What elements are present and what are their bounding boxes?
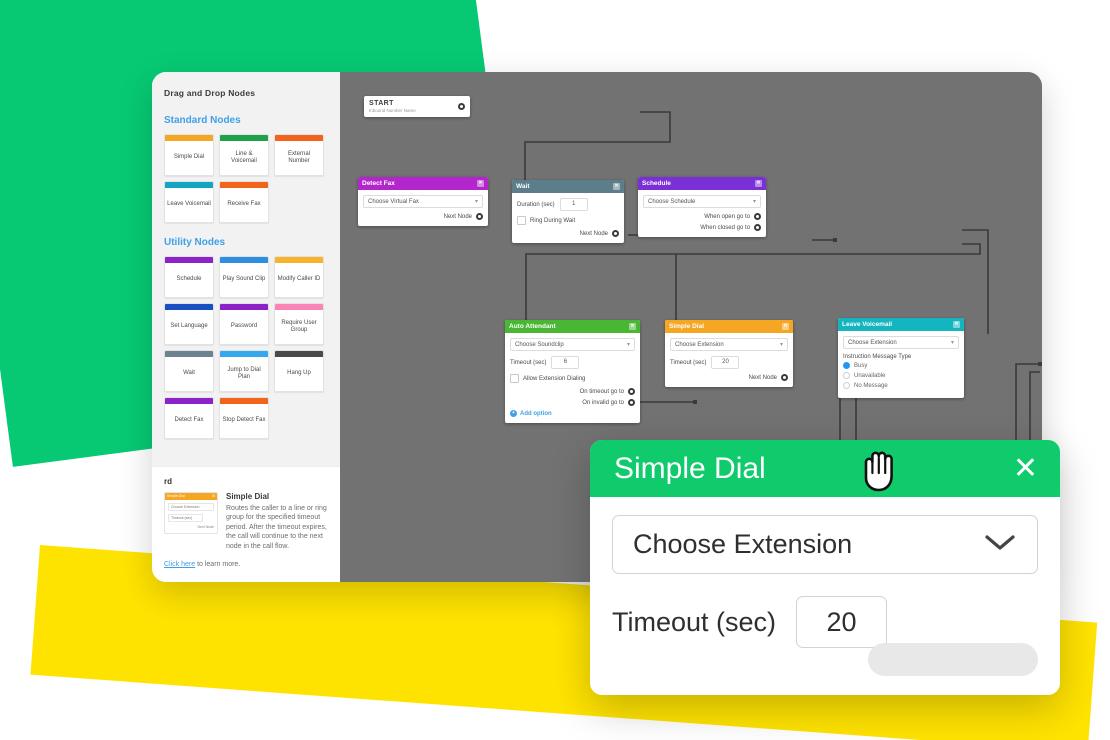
close-icon[interactable]: ✕ xyxy=(782,323,789,330)
select-value: Choose Schedule xyxy=(648,199,695,205)
timeout-label: Timeout (sec) xyxy=(510,360,546,366)
node-header: Leave Voicemail ✕ xyxy=(838,318,964,331)
node-title: Wait xyxy=(516,183,529,190)
flow-node-leave-voicemail[interactable]: Leave Voicemail ✕ Choose Extension ▾ Ins… xyxy=(838,318,964,398)
node-label: Set Language xyxy=(165,310,213,344)
duration-row: Duration (sec) 1 xyxy=(517,198,619,211)
virtual-fax-select[interactable]: Choose Virtual Fax ▾ xyxy=(363,195,483,208)
node-label: Require User Group xyxy=(275,310,323,344)
node-header: Schedule ✕ xyxy=(638,177,766,190)
chevron-down-icon: ▾ xyxy=(627,341,630,348)
close-icon[interactable]: ✕ xyxy=(477,180,484,187)
node-header: Detect Fax ✕ xyxy=(358,177,488,190)
port-label: Next Node xyxy=(580,231,608,237)
node-label: Play Sound Clip xyxy=(220,263,268,297)
palette-heading: Drag and Drop Nodes xyxy=(164,88,328,98)
node-palette-sidebar: Drag and Drop Nodes Standard Nodes Simpl… xyxy=(152,72,340,582)
palette-node-jump-to-dial-plan[interactable]: Jump to Dial Plan xyxy=(219,350,269,392)
node-label: Jump to Dial Plan xyxy=(220,357,268,391)
select-value: Choose Virtual Fax xyxy=(368,199,419,205)
palette-node-receive-fax[interactable]: Receive Fax xyxy=(219,181,269,223)
node-label: Password xyxy=(220,310,268,344)
legend-preview-card: Simple Dial ☒ Choose Extension Timeout (… xyxy=(164,492,218,534)
node-title: Auto Attendant xyxy=(509,323,556,330)
instruction-message-type-label: Instruction Message Type xyxy=(843,354,959,360)
node-label: Leave Voicemail xyxy=(165,188,213,222)
legend-preview-close-icon: ☒ xyxy=(212,494,215,498)
grab-hand-cursor-icon xyxy=(856,446,900,499)
close-icon[interactable]: ✕ xyxy=(1013,454,1038,484)
legend-preview-header: Simple Dial ☒ xyxy=(165,493,217,500)
screenshot-stage: Drag and Drop Nodes Standard Nodes Simpl… xyxy=(0,0,1110,740)
legend-preview-row-extension: Choose Extension xyxy=(168,503,214,511)
allow-extension-dialing-checkbox[interactable] xyxy=(510,374,519,383)
port-label: On timeout go to xyxy=(580,389,624,395)
schedule-select[interactable]: Choose Schedule ▾ xyxy=(643,195,761,208)
timeout-input[interactable]: 20 xyxy=(711,356,739,369)
output-port[interactable] xyxy=(781,374,788,381)
palette-node-detect-fax[interactable]: Detect Fax xyxy=(164,397,214,439)
chevron-down-icon: ▾ xyxy=(475,198,478,205)
chevron-down-icon: ▾ xyxy=(753,198,756,205)
palette-node-play-sound-clip[interactable]: Play Sound Clip xyxy=(219,256,269,298)
extension-select[interactable]: Choose Extension ▾ xyxy=(843,336,959,349)
ring-during-wait-label: Ring During Wait xyxy=(530,218,575,224)
allow-extension-dialing-row[interactable]: Allow Extension Dialing xyxy=(510,374,635,383)
node-label: Detect Fax xyxy=(165,404,213,438)
close-icon[interactable]: ✕ xyxy=(629,323,636,330)
chevron-down-icon xyxy=(983,529,1017,560)
flow-node-schedule[interactable]: Schedule ✕ Choose Schedule ▾ When open g… xyxy=(638,177,766,237)
palette-node-external-number[interactable]: External Number xyxy=(274,134,324,176)
output-port-invalid[interactable] xyxy=(628,399,635,406)
chevron-down-icon: ▾ xyxy=(780,341,783,348)
port-label: Next Node xyxy=(749,375,777,381)
learn-more-suffix: to learn more. xyxy=(195,561,240,568)
section-title-utility-nodes: Utility Nodes xyxy=(164,237,328,248)
output-port[interactable] xyxy=(476,213,483,220)
timeout-row: Timeout (sec) 6 xyxy=(510,356,635,369)
start-title: START xyxy=(369,100,416,107)
node-label: Modify Caller ID xyxy=(275,263,323,297)
add-option-label: Add option xyxy=(520,411,552,417)
node-body: Choose Virtual Fax ▾ Next Node xyxy=(358,190,488,226)
palette-node-modify-caller-id[interactable]: Modify Caller ID xyxy=(274,256,324,298)
palette-node-leave-voicemail[interactable]: Leave Voicemail xyxy=(164,181,214,223)
dialog-footer-bar[interactable] xyxy=(868,643,1038,676)
palette-node-hang-up[interactable]: Hang Up xyxy=(274,350,324,392)
radio-icon-no-message[interactable] xyxy=(843,382,850,389)
ring-during-wait-row[interactable]: Ring During Wait xyxy=(517,216,619,225)
legend-link-row: Click here to learn more. xyxy=(164,561,328,568)
palette-node-password[interactable]: Password xyxy=(219,303,269,345)
start-output-port[interactable] xyxy=(458,103,465,110)
output-port-closed[interactable] xyxy=(754,224,761,231)
legend-heading: rd xyxy=(164,477,328,486)
close-icon[interactable]: ✕ xyxy=(953,321,960,328)
dialog-body: Choose Extension Timeout (sec) 20 xyxy=(590,497,1060,648)
node-label: Wait xyxy=(165,357,213,391)
simple-dial-dialog[interactable]: Simple Dial ✕ Choose Extension Timeout (… xyxy=(590,440,1060,695)
node-header: Wait ✕ xyxy=(512,180,624,193)
next-node-port-row: Next Node xyxy=(517,230,619,237)
palette-node-simple-dial[interactable]: Simple Dial xyxy=(164,134,214,176)
chevron-down-icon: ▾ xyxy=(951,339,954,346)
allow-extension-dialing-label: Allow Extension Dialing xyxy=(523,376,585,382)
on-invalid-port-row: On invalid go to xyxy=(510,399,635,406)
start-text-block: START Inbound Number Name xyxy=(369,100,416,113)
next-node-port-row: Next Node xyxy=(670,374,788,381)
node-label: Line & Voicemail xyxy=(220,141,268,175)
section-title-standard-nodes: Standard Nodes xyxy=(164,115,328,126)
soundclip-select[interactable]: Choose Soundclip ▾ xyxy=(510,338,635,351)
palette-node-wait[interactable]: Wait xyxy=(164,350,214,392)
node-title: Schedule xyxy=(642,180,671,187)
timeout-row: Timeout (sec) 20 xyxy=(612,596,1038,648)
when-open-port-row: When open go to xyxy=(643,213,761,220)
node-label: Receive Fax xyxy=(220,188,268,222)
port-label: On invalid go to xyxy=(582,400,624,406)
dialog-title: Simple Dial xyxy=(614,452,766,486)
when-closed-port-row: When closed go to xyxy=(643,224,761,231)
duration-label: Duration (sec) xyxy=(517,202,555,208)
select-value: Choose Extension xyxy=(675,342,724,348)
add-option-button[interactable]: + Add option xyxy=(510,410,635,417)
node-label: Hang Up xyxy=(275,357,323,391)
timeout-label: Timeout (sec) xyxy=(612,607,776,638)
port-label: When closed go to xyxy=(700,225,750,231)
radio-option-unavailable[interactable]: Unavailable xyxy=(843,372,959,379)
output-port-timeout[interactable] xyxy=(628,388,635,395)
node-label: Simple Dial xyxy=(165,141,213,175)
node-body: Choose Extension ▾ Instruction Message T… xyxy=(838,331,964,398)
port-label: Next Node xyxy=(444,214,472,220)
node-header: Auto Attendant ✕ xyxy=(505,320,640,333)
palette-node-line-voicemail[interactable]: Line & Voicemail xyxy=(219,134,269,176)
legend-preview-title: Simple Dial xyxy=(167,494,185,498)
standard-nodes-grid: Simple Dial Line & Voicemail External Nu… xyxy=(164,134,328,223)
radio-label-busy: Busy xyxy=(854,363,867,369)
plus-icon: + xyxy=(510,410,517,417)
ring-during-wait-checkbox[interactable] xyxy=(517,216,526,225)
extension-select[interactable]: Choose Extension ▾ xyxy=(670,338,788,351)
timeout-input[interactable]: 20 xyxy=(796,596,887,648)
node-label: Schedule xyxy=(165,263,213,297)
select-value: Choose Extension xyxy=(848,340,897,346)
radio-label-unavailable: Unavailable xyxy=(854,373,885,379)
next-node-port-row: Next Node xyxy=(363,213,483,220)
timeout-row: Timeout (sec) 20 xyxy=(670,356,788,369)
node-body: Duration (sec) 1 Ring During Wait Next N… xyxy=(512,193,624,243)
select-value: Choose Soundclip xyxy=(515,342,564,348)
flow-node-auto-attendant[interactable]: Auto Attendant ✕ Choose Soundclip ▾ Time… xyxy=(505,320,640,423)
timeout-label: Timeout (sec) xyxy=(670,360,706,366)
legend-text-block: Simple Dial Routes the caller to a line … xyxy=(226,492,328,552)
palette-node-schedule[interactable]: Schedule xyxy=(164,256,214,298)
palette-node-set-language[interactable]: Set Language xyxy=(164,303,214,345)
radio-icon-busy[interactable] xyxy=(843,362,850,369)
flow-node-wait[interactable]: Wait ✕ Duration (sec) 1 Ring During Wait… xyxy=(512,180,624,243)
close-icon[interactable]: ✕ xyxy=(755,180,762,187)
output-port-open[interactable] xyxy=(754,213,761,220)
radio-option-no-message[interactable]: No Message xyxy=(843,382,959,389)
close-icon[interactable]: ✕ xyxy=(613,183,620,190)
flow-node-start[interactable]: START Inbound Number Name xyxy=(364,96,470,117)
node-description-panel: rd Simple Dial ☒ Choose Extension Timeou… xyxy=(152,466,340,583)
palette-node-stop-detect-fax[interactable]: Stop Detect Fax xyxy=(219,397,269,439)
legend-description: Routes the caller to a line or ring grou… xyxy=(226,504,328,552)
output-port[interactable] xyxy=(612,230,619,237)
timeout-input[interactable]: 6 xyxy=(551,356,579,369)
node-body: Choose Schedule ▾ When open go to When c… xyxy=(638,190,766,237)
on-timeout-port-row: On timeout go to xyxy=(510,388,635,395)
radio-option-busy[interactable]: Busy xyxy=(843,362,959,369)
node-label: Stop Detect Fax xyxy=(220,404,268,438)
utility-nodes-grid: Schedule Play Sound Clip Modify Caller I… xyxy=(164,256,328,439)
palette-node-require-user-group[interactable]: Require User Group xyxy=(274,303,324,345)
node-body: Choose Extension ▾ Timeout (sec) 20 Next… xyxy=(665,333,793,387)
node-title: Leave Voicemail xyxy=(842,321,892,328)
radio-icon-unavailable[interactable] xyxy=(843,372,850,379)
flow-node-simple-dial[interactable]: Simple Dial ✕ Choose Extension ▾ Timeout… xyxy=(665,320,793,387)
legend-body: Simple Dial ☒ Choose Extension Timeout (… xyxy=(164,492,328,552)
dialog-header[interactable]: Simple Dial ✕ xyxy=(590,440,1060,497)
flow-node-detect-fax[interactable]: Detect Fax ✕ Choose Virtual Fax ▾ Next N… xyxy=(358,177,488,226)
node-header: Simple Dial ✕ xyxy=(665,320,793,333)
node-label: External Number xyxy=(275,141,323,175)
extension-select[interactable]: Choose Extension xyxy=(612,515,1038,574)
radio-label-no-message: No Message xyxy=(854,383,888,389)
legend-preview-foot: Next Node xyxy=(165,522,217,529)
select-value: Choose Extension xyxy=(633,529,852,560)
port-label: When open go to xyxy=(704,214,750,220)
node-title: Detect Fax xyxy=(362,180,395,187)
node-body: Choose Soundclip ▾ Timeout (sec) 6 Allow… xyxy=(505,333,640,423)
legend-preview-row-timeout: Timeout (sec) xyxy=(168,514,203,522)
start-subtitle: Inbound Number Name xyxy=(369,108,416,113)
legend-node-title: Simple Dial xyxy=(226,492,328,501)
duration-input[interactable]: 1 xyxy=(560,198,588,211)
learn-more-link[interactable]: Click here xyxy=(164,561,195,568)
node-title: Simple Dial xyxy=(669,323,704,330)
